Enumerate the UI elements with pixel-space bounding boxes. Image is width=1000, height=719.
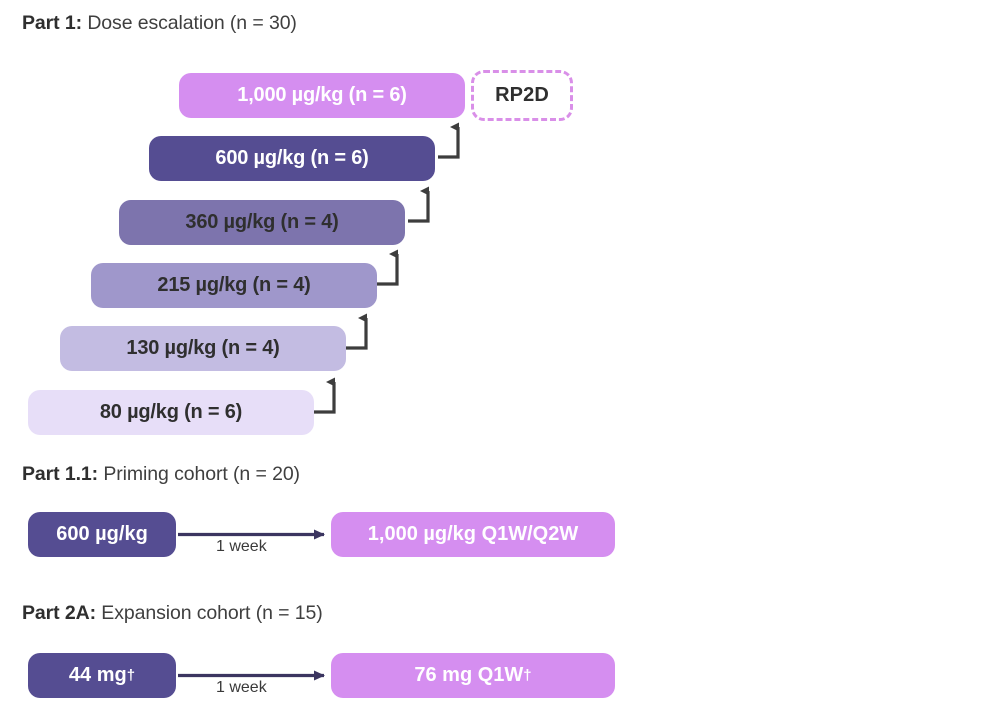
dose-level-80[interactable]: 80 µg/kg (n = 6) <box>28 390 314 435</box>
part11-heading-rest: Priming cohort (n = 20) <box>98 463 300 485</box>
part2a-heading: Part 2A: Expansion cohort (n = 15) <box>22 602 323 625</box>
connector-80-to-130 <box>314 382 334 412</box>
expansion-end-box[interactable]: 76 mg Q1W† <box>331 653 615 698</box>
expansion-start-label: 44 mg <box>69 664 127 687</box>
connector-360-to-600 <box>408 191 428 221</box>
part11-heading-lead: Part 1.1: <box>22 463 98 485</box>
connector-600-to-1000 <box>438 127 458 157</box>
dose-level-215-label: 215 µg/kg (n = 4) <box>157 274 310 297</box>
priming-end-box[interactable]: 1,000 µg/kg Q1W/Q2W <box>331 512 615 557</box>
dose-level-360-label: 360 µg/kg (n = 4) <box>185 211 338 234</box>
dose-level-360[interactable]: 360 µg/kg (n = 4) <box>119 200 405 245</box>
priming-start-box[interactable]: 600 µg/kg <box>28 512 176 557</box>
part2a-heading-lead: Part 2A: <box>22 602 96 624</box>
part1-heading-lead: Part 1: <box>22 12 82 34</box>
dose-level-1000-label: 1,000 µg/kg (n = 6) <box>237 84 406 107</box>
dose-level-1000[interactable]: 1,000 µg/kg (n = 6) <box>179 73 465 118</box>
part11-heading: Part 1.1: Priming cohort (n = 20) <box>22 463 300 486</box>
dose-level-130-label: 130 µg/kg (n = 4) <box>126 337 279 360</box>
part1-heading-rest: Dose escalation (n = 30) <box>82 12 297 34</box>
expansion-interval-label: 1 week <box>216 679 267 697</box>
priming-interval-label: 1 week <box>216 538 267 556</box>
rp2d-badge[interactable]: RP2D <box>471 70 573 121</box>
expansion-end-label: 76 mg Q1W <box>414 664 523 687</box>
dose-level-130[interactable]: 130 µg/kg (n = 4) <box>60 326 346 371</box>
expansion-start-box[interactable]: 44 mg† <box>28 653 176 698</box>
priming-start-label: 600 µg/kg <box>56 523 148 546</box>
dose-level-600-label: 600 µg/kg (n = 6) <box>215 147 368 170</box>
part2a-heading-rest: Expansion cohort (n = 15) <box>96 602 323 624</box>
dose-level-80-label: 80 µg/kg (n = 6) <box>100 401 242 424</box>
dose-level-215[interactable]: 215 µg/kg (n = 4) <box>91 263 377 308</box>
priming-end-label: 1,000 µg/kg Q1W/Q2W <box>368 523 578 546</box>
connector-130-to-215 <box>346 318 366 348</box>
part1-heading: Part 1: Dose escalation (n = 30) <box>22 12 297 35</box>
rp2d-badge-label: RP2D <box>495 84 549 107</box>
dose-level-600[interactable]: 600 µg/kg (n = 6) <box>149 136 435 181</box>
connector-215-to-360 <box>377 254 397 284</box>
